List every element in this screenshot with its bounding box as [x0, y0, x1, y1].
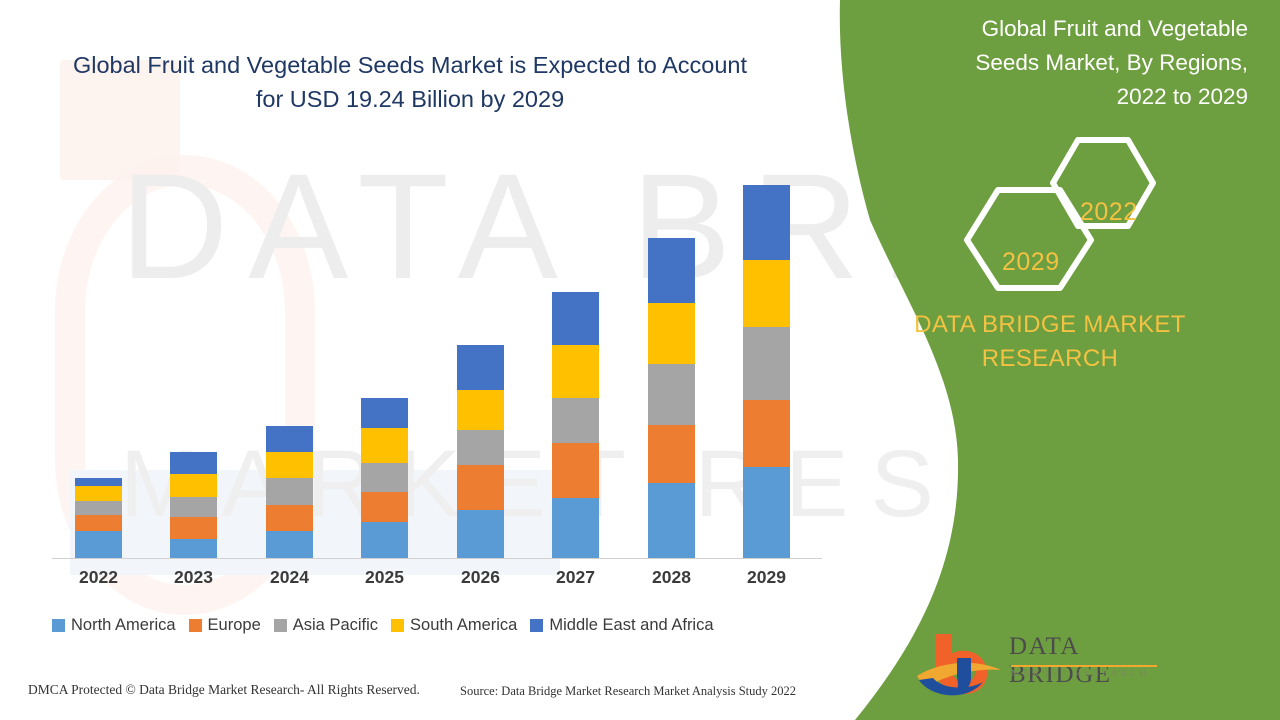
bar-segment-europe: [170, 517, 217, 539]
legend-swatch-icon: [391, 619, 404, 632]
legend-label: South America: [410, 616, 517, 635]
legend-item-asia_pacific[interactable]: Asia Pacific: [274, 616, 378, 635]
bar-segment-south_america: [361, 428, 408, 463]
bar-segment-south_america: [266, 452, 313, 478]
bar-segment-south_america: [648, 303, 695, 364]
bar-segment-asia_pacific: [743, 327, 790, 400]
bar-segment-north_america: [361, 522, 408, 558]
legend-item-south_america[interactable]: South America: [391, 616, 517, 635]
bar-segment-europe: [457, 465, 504, 510]
bar-segment-middle_east_africa: [170, 452, 217, 474]
x-tick-2024: 2024: [245, 567, 335, 588]
bar-segment-north_america: [648, 483, 695, 558]
legend-label: Europe: [208, 616, 261, 635]
bar-segment-north_america: [743, 467, 790, 558]
bar-segment-south_america: [743, 260, 790, 327]
bar-segment-north_america: [170, 539, 217, 558]
legend-swatch-icon: [274, 619, 287, 632]
bar-segment-asia_pacific: [361, 463, 408, 492]
bar-segment-asia_pacific: [457, 430, 504, 465]
bar-segment-middle_east_africa: [552, 292, 599, 345]
bar-segment-north_america: [457, 510, 504, 558]
legend-label: Middle East and Africa: [549, 616, 713, 635]
x-tick-2029: 2029: [722, 567, 812, 588]
bar-segment-north_america: [266, 531, 313, 558]
hexagon-start-year-label: 2022: [1080, 198, 1138, 227]
bar-segment-europe: [648, 425, 695, 483]
green-panel-content: Global Fruit and Vegetable Seeds Market,…: [810, 0, 1280, 720]
bar-segment-south_america: [552, 345, 599, 398]
bar-segment-middle_east_africa: [75, 478, 122, 486]
bar-segment-middle_east_africa: [266, 426, 313, 452]
x-tick-2028: 2028: [627, 567, 717, 588]
bar-2028: [648, 238, 695, 558]
source-note: Source: Data Bridge Market Research Mark…: [460, 684, 796, 699]
panel-title: Global Fruit and Vegetable Seeds Market,…: [948, 12, 1248, 113]
bar-2024: [266, 426, 313, 558]
bar-segment-asia_pacific: [170, 497, 217, 517]
bar-segment-south_america: [75, 486, 122, 501]
bar-segment-middle_east_africa: [648, 238, 695, 303]
x-tick-2023: 2023: [149, 567, 239, 588]
hexagon-outlines-svg: [960, 128, 1190, 293]
logo-mark-icon: [913, 628, 1005, 696]
x-axis-line: [52, 558, 822, 559]
bar-segment-north_america: [552, 498, 599, 558]
legend-item-north_america[interactable]: North America: [52, 616, 176, 635]
infographic-root: DATA BRIDGE MARKET RESEARCH Global Fruit…: [0, 0, 1280, 720]
bar-segment-middle_east_africa: [743, 185, 790, 260]
logo-wordmark: DATA BRIDGE: [1009, 633, 1163, 689]
legend-label: Asia Pacific: [293, 616, 378, 635]
bar-2022: [75, 478, 122, 558]
bar-segment-south_america: [457, 390, 504, 430]
bar-segment-europe: [552, 443, 599, 498]
legend-item-europe[interactable]: Europe: [189, 616, 261, 635]
x-tick-2027: 2027: [531, 567, 621, 588]
bar-segment-europe: [361, 492, 408, 522]
bar-segment-north_america: [75, 531, 122, 558]
bar-2027: [552, 292, 599, 558]
bar-segment-asia_pacific: [75, 501, 122, 515]
bar-2026: [457, 345, 504, 558]
x-tick-2025: 2025: [340, 567, 430, 588]
x-tick-2026: 2026: [436, 567, 526, 588]
chart-plot-area: [52, 170, 822, 560]
hexagon-pair: 2022 2029: [960, 128, 1190, 293]
legend-item-middle_east_africa[interactable]: Middle East and Africa: [530, 616, 713, 635]
bar-2025: [361, 398, 408, 558]
legend-swatch-icon: [530, 619, 543, 632]
bar-segment-south_america: [170, 474, 217, 497]
page-title: Global Fruit and Vegetable Seeds Market …: [60, 48, 760, 117]
x-axis-tick-labels: 20222023202420252026202720282029: [52, 567, 822, 597]
brand-name: DATA BRIDGE MARKET RESEARCH: [900, 308, 1200, 376]
x-tick-2022: 2022: [54, 567, 144, 588]
bar-segment-europe: [743, 400, 790, 467]
hexagon-end-year-label: 2029: [1002, 248, 1060, 277]
bar-segment-middle_east_africa: [361, 398, 408, 428]
logo-tagline: MARKET RESEARCH: [1011, 669, 1149, 679]
chart-legend: North AmericaEuropeAsia PacificSouth Ame…: [52, 616, 832, 635]
logo-divider: [1011, 665, 1157, 667]
bar-segment-asia_pacific: [266, 478, 313, 505]
bar-segment-asia_pacific: [648, 364, 695, 425]
bar-2029: [743, 185, 790, 558]
bar-segment-middle_east_africa: [457, 345, 504, 390]
bar-segment-europe: [75, 515, 122, 531]
dmca-notice: DMCA Protected © Data Bridge Market Rese…: [28, 682, 420, 698]
bar-segment-europe: [266, 505, 313, 531]
legend-swatch-icon: [189, 619, 202, 632]
legend-swatch-icon: [52, 619, 65, 632]
bar-2023: [170, 452, 217, 558]
bar-segment-asia_pacific: [552, 398, 599, 443]
data-bridge-logo: DATA BRIDGE MARKET RESEARCH: [913, 628, 1163, 700]
legend-label: North America: [71, 616, 176, 635]
